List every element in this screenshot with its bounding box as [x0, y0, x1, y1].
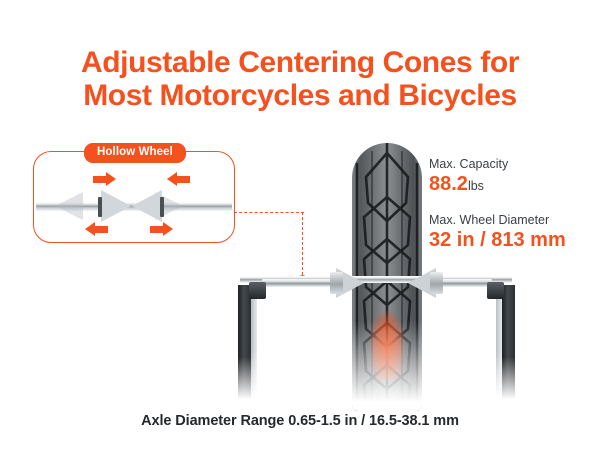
spec-max-capacity-label: Max. Capacity — [429, 156, 508, 172]
stand-leg-inner-left — [251, 288, 257, 400]
arrow-top-right-icon — [167, 172, 190, 186]
hub-collar-left — [330, 272, 343, 294]
spec-max-wheel-diameter: Max. Wheel Diameter 32 in / 813 mm — [429, 212, 566, 252]
hollow-wheel-badge: Hollow Wheel — [84, 143, 186, 163]
spec-max-capacity-number: 88.2 — [429, 173, 468, 195]
spec-max-wheel-diameter-value: 32 in / 813 mm — [429, 228, 566, 252]
hub-collar-right — [430, 272, 443, 294]
arrow-bottom-left-icon — [85, 222, 108, 236]
arrow-top-left-icon — [93, 172, 116, 186]
title-line-2: Most Motorcycles and Bicycles — [0, 79, 600, 112]
callout-ghost-cone-left-icon — [55, 192, 83, 220]
callout-leader-line-horizontal — [234, 212, 304, 213]
callout-collar-right — [160, 197, 164, 217]
callout-collar-left — [98, 197, 102, 217]
stand-leg-inner-right — [496, 288, 502, 400]
spec-max-capacity-unit: lbs — [468, 179, 484, 193]
stand-leg-right — [502, 285, 515, 403]
callout-cone-right-icon — [132, 190, 162, 222]
spec-max-capacity: Max. Capacity 88.2lbs — [429, 156, 508, 198]
page-title: Adjustable Centering Cones for Most Moto… — [0, 46, 600, 112]
spec-max-wheel-diameter-label: Max. Wheel Diameter — [429, 212, 566, 228]
axle-clamp-right — [487, 282, 504, 299]
axle-clamp-left — [249, 282, 266, 299]
title-line-1: Adjustable Centering Cones for — [0, 46, 600, 79]
callout-leader-line-vertical — [302, 212, 303, 280]
callout-cone-left-icon — [101, 190, 131, 222]
stand-leg-left — [238, 285, 251, 403]
tire-center-highlight — [370, 311, 404, 381]
axle-diameter-range-caption: Axle Diameter Range 0.65-1.5 in / 16.5-3… — [0, 413, 600, 429]
arrow-bottom-right-icon — [150, 222, 173, 236]
spec-max-capacity-value: 88.2lbs — [429, 172, 508, 198]
infographic-canvas: Adjustable Centering Cones for Most Moto… — [0, 0, 600, 450]
